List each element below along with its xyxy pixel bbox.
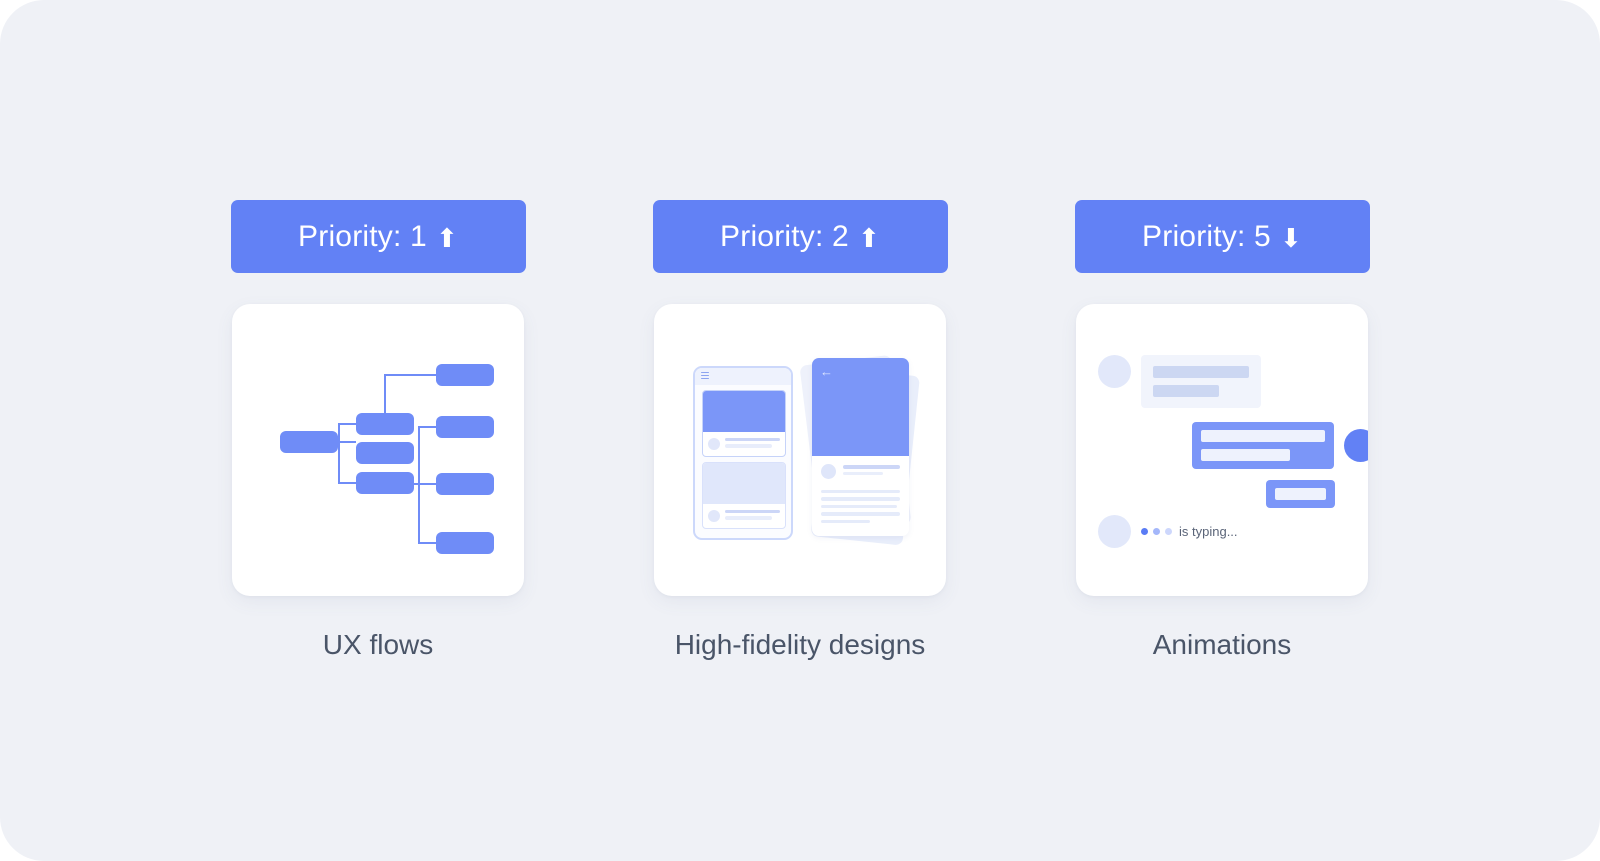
illustration-chat-animation: is typing... <box>1076 304 1368 596</box>
illustration-high-fidelity-mockups: ← <box>654 304 946 596</box>
card-ux-flows[interactable]: Priority: 1 ⬆ <box>231 200 526 661</box>
card-high-fidelity-designs[interactable]: Priority: 2 ⬆ <box>653 200 948 661</box>
phone-status-bar <box>695 368 791 385</box>
flow-connector-branch-top <box>338 423 356 425</box>
chat-bubble-outgoing <box>1192 422 1334 469</box>
design-sheet-front: ← <box>812 358 909 536</box>
avatar <box>821 464 836 479</box>
avatar <box>1344 429 1368 462</box>
hamburger-menu-icon <box>701 372 709 381</box>
chat-bubble-incoming <box>1141 355 1261 408</box>
priority-badge-3[interactable]: Priority: 5 ⬇ <box>1075 200 1370 273</box>
flow-node-leaf-2 <box>436 416 494 438</box>
arrow-up-icon: ⬆ <box>858 225 880 251</box>
chat-typing-indicator: is typing... <box>1098 515 1238 548</box>
phone-card-image <box>703 463 785 504</box>
flow-connector-leaf2 <box>418 426 436 428</box>
card-label-ux-flows: UX flows <box>323 629 433 661</box>
illustration-ux-flow-diagram <box>232 304 524 596</box>
card-label-high-fidelity-designs: High-fidelity designs <box>675 629 926 661</box>
card-animations[interactable]: Priority: 5 ⬇ <box>1075 200 1370 661</box>
typing-dots-icon <box>1141 528 1172 535</box>
flow-node-leaf-1 <box>436 364 494 386</box>
placeholder-text-lines <box>725 438 780 451</box>
flow-connector-root <box>338 441 356 443</box>
chat-bubble-outgoing <box>1266 480 1335 508</box>
avatar <box>1098 355 1131 388</box>
chat-message-incoming <box>1098 355 1261 408</box>
flow-connector-leaf4 <box>418 542 436 544</box>
chat-mockup: is typing... <box>1076 304 1368 596</box>
placeholder-paragraph <box>821 490 900 523</box>
phone-card-footer <box>703 504 785 529</box>
avatar <box>708 438 720 450</box>
card-grid: Priority: 1 ⬆ <box>0 0 1600 861</box>
design-sheet-stack: ← <box>800 356 910 546</box>
flow-node-branch-mid <box>356 442 414 464</box>
flow-diagram <box>232 304 524 596</box>
flow-connector-leaf3 <box>414 483 436 485</box>
sheet-body <box>812 456 909 523</box>
avatar <box>708 510 720 522</box>
placeholder-title-lines <box>843 465 900 478</box>
card-label-animations: Animations <box>1153 629 1292 661</box>
priority-badge-label: Priority: 1 <box>298 220 427 254</box>
typing-row: is typing... <box>1141 524 1238 539</box>
phone-card-image <box>703 391 785 432</box>
phone-card-footer <box>703 432 785 457</box>
chat-message-outgoing-2 <box>1266 480 1335 508</box>
avatar <box>1098 515 1131 548</box>
flow-node-leaf-3 <box>436 473 494 495</box>
flow-bus-left <box>338 424 340 483</box>
flow-node-root <box>280 431 338 453</box>
flow-connector-leaf1 <box>384 374 436 376</box>
flow-connector-branch-bot <box>338 482 356 484</box>
priority-badge-label: Priority: 5 <box>1142 220 1271 254</box>
priority-badge-label: Priority: 2 <box>720 220 849 254</box>
chat-message-outgoing-1 <box>1192 422 1368 469</box>
flow-connector-up-leaf1 <box>384 375 386 415</box>
back-arrow-icon: ← <box>820 365 833 378</box>
page-container: Priority: 1 ⬆ <box>0 0 1600 861</box>
phone-mockup <box>693 366 793 540</box>
phone-content-card-1 <box>702 390 786 457</box>
priority-badge-1[interactable]: Priority: 1 ⬆ <box>231 200 526 273</box>
arrow-down-icon: ⬇ <box>1280 225 1302 251</box>
sheet-author-row <box>821 464 900 479</box>
flow-node-branch-bot <box>356 472 414 494</box>
arrow-up-icon: ⬆ <box>436 225 458 251</box>
sheet-header: ← <box>812 358 909 456</box>
priority-badge-2[interactable]: Priority: 2 ⬆ <box>653 200 948 273</box>
flow-node-branch-top <box>356 413 414 435</box>
typing-status-text: is typing... <box>1179 524 1238 539</box>
phone-content-card-2 <box>702 462 786 529</box>
placeholder-text-lines <box>725 510 780 523</box>
flow-node-leaf-4 <box>436 532 494 554</box>
